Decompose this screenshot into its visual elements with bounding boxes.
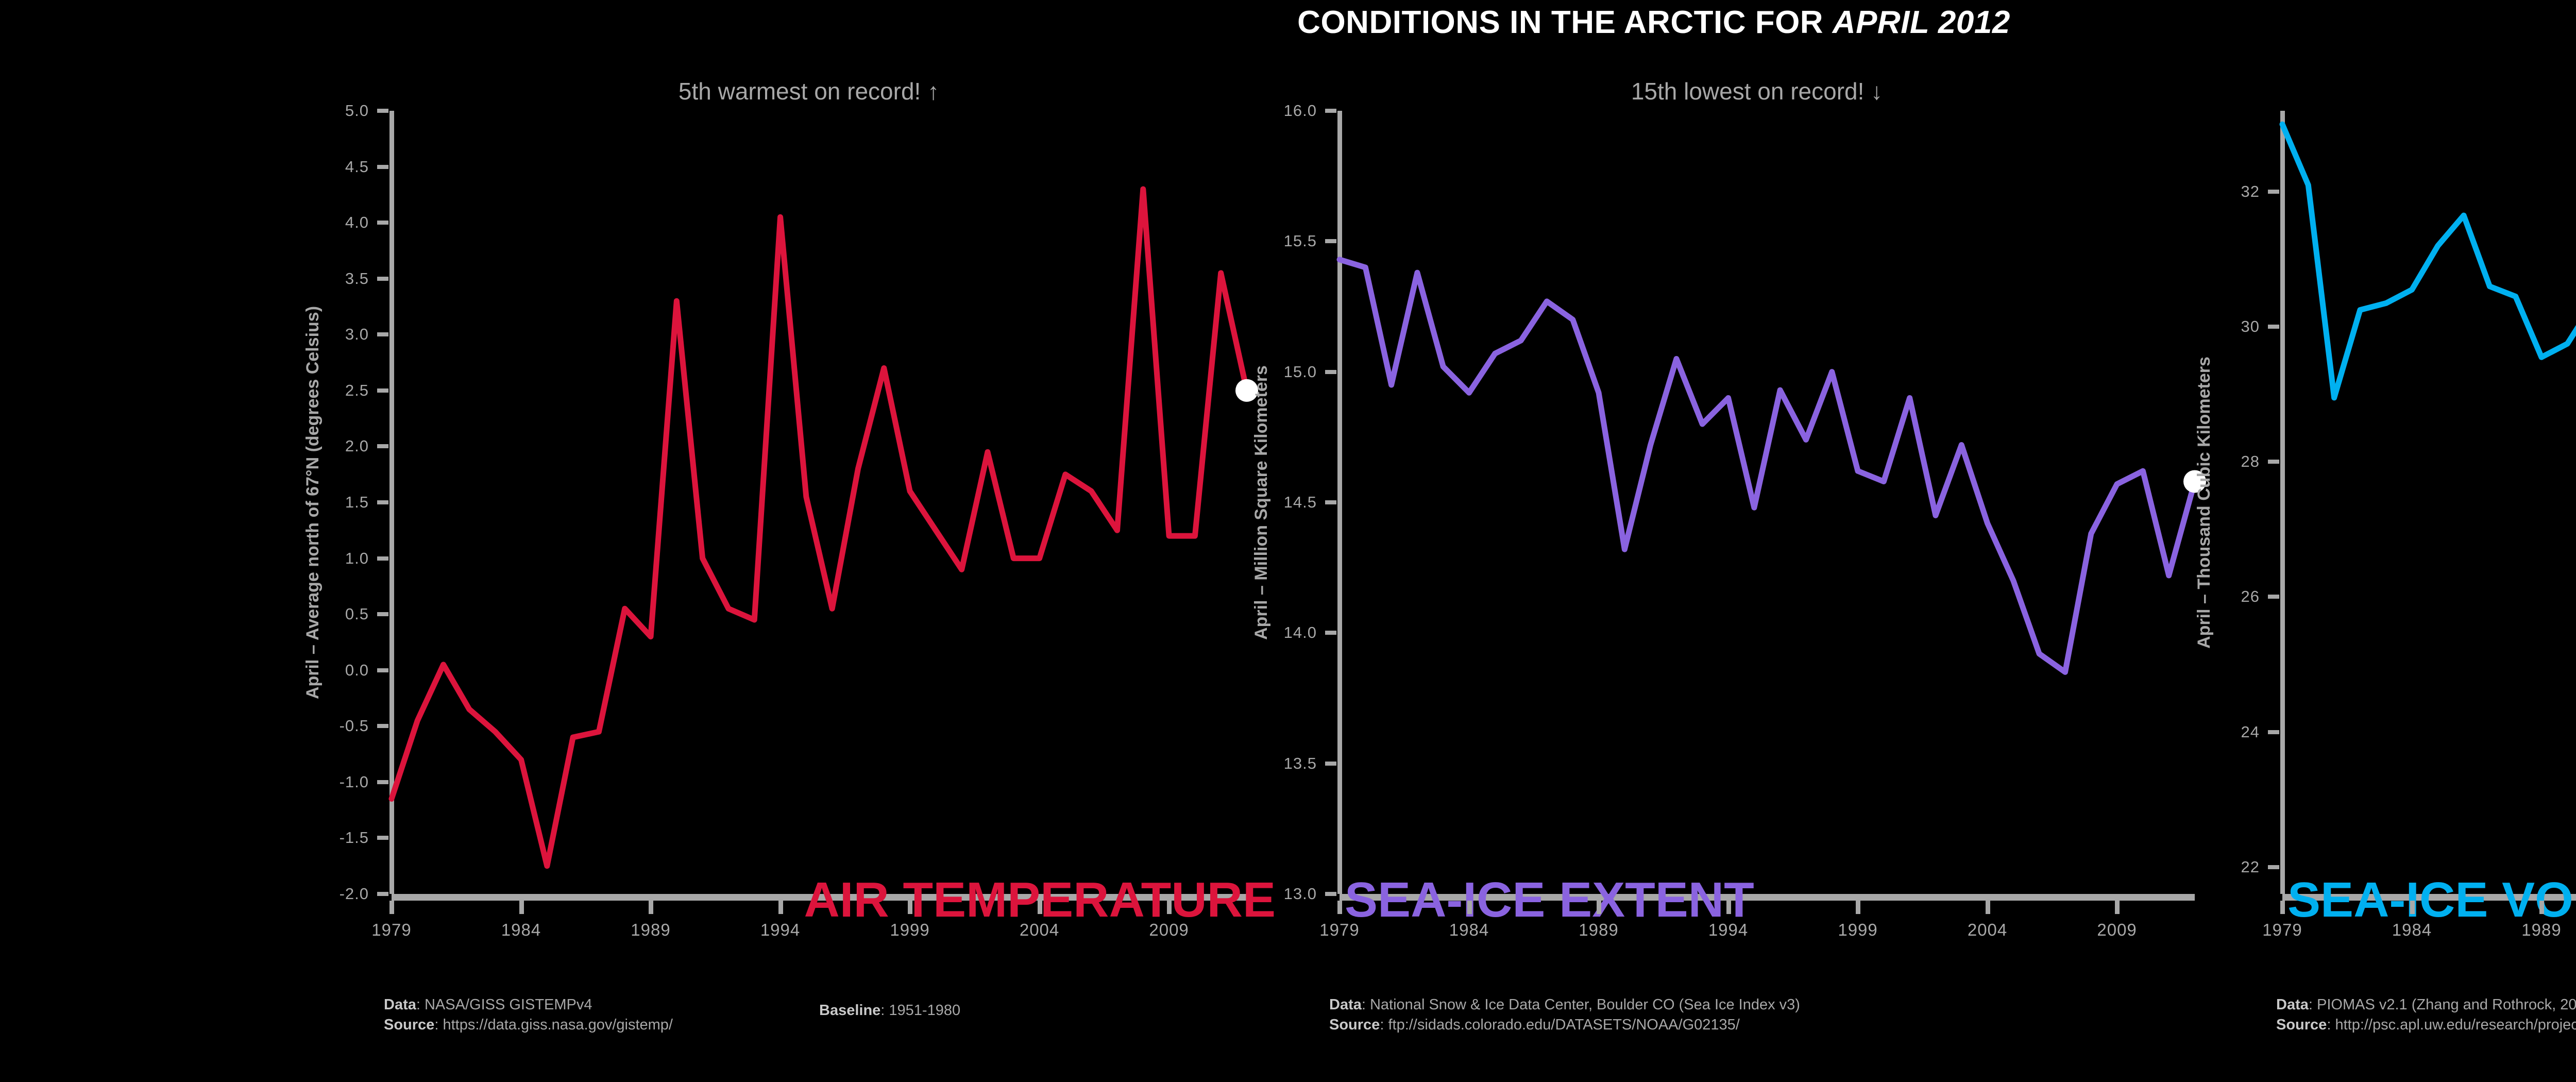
- y-tick-mark: [2268, 865, 2279, 869]
- page-title-emphasis: APRIL 2012: [1833, 5, 2010, 40]
- footer-source-label: Source: [1329, 1017, 1380, 1033]
- y-tick-mark: [377, 612, 388, 616]
- x-tick-label: 1999: [890, 920, 929, 940]
- x-tick-label: 1999: [1838, 920, 1877, 940]
- y-tick-label: 4.5: [276, 158, 369, 176]
- y-tick-mark: [377, 500, 388, 504]
- y-tick-mark: [377, 892, 388, 896]
- y-tick-label: 0.0: [276, 661, 369, 680]
- footer-source-label: Source: [384, 1017, 434, 1033]
- x-tick-mark: [2410, 901, 2415, 914]
- x-tick-mark: [778, 901, 783, 914]
- y-tick-label: 15.5: [1224, 232, 1317, 250]
- footer-sea-ice-volume: Data: PIOMAS v2.1 (Zhang and Rothrock, 2…: [2276, 995, 2576, 1035]
- x-tick-mark: [1467, 901, 1472, 914]
- x-tick-mark: [1726, 901, 1731, 914]
- y-tick-mark: [1325, 500, 1336, 504]
- footer-source-line: Source: https://data.giss.nasa.gov/giste…: [384, 1015, 673, 1035]
- footer-data-value: NASA/GISS GISTEMPv4: [425, 996, 592, 1013]
- y-tick-label: -0.5: [276, 717, 369, 735]
- panel-subtitle-air-temperature: 5th warmest on record! ↑: [335, 77, 1283, 105]
- footer-source-label: Source: [2276, 1017, 2327, 1033]
- y-tick-mark: [377, 556, 388, 561]
- y-tick-label: 1.5: [276, 493, 369, 512]
- y-tick-label: 26: [2167, 587, 2260, 606]
- x-tick-label: 1989: [631, 920, 670, 940]
- footer-source-value: http://psc.apl.uw.edu/research/projects/…: [2335, 1017, 2576, 1033]
- x-tick-label: 1984: [1449, 920, 1489, 940]
- y-tick-mark: [377, 109, 388, 113]
- y-tick-label: -1.0: [276, 773, 369, 791]
- y-tick-mark: [377, 277, 388, 281]
- y-tick-label: 32: [2167, 182, 2260, 201]
- panel-air-temperature: 5th warmest on record! ↑ April – Average…: [289, 72, 1283, 1067]
- x-tick-mark: [2115, 901, 2120, 914]
- data-line-air-temperature: [392, 189, 1247, 866]
- x-tick-mark: [1856, 901, 1860, 914]
- y-tick-mark: [377, 165, 388, 169]
- x-tick-label: 2004: [1968, 920, 2007, 940]
- x-tick-label: 1989: [1579, 920, 1618, 940]
- y-tick-label: 24: [2167, 723, 2260, 741]
- y-tick-mark: [1325, 892, 1336, 896]
- x-tick-mark: [1167, 901, 1172, 914]
- y-tick-label: 5.0: [276, 102, 369, 120]
- y-tick-mark: [1325, 762, 1336, 766]
- y-tick-mark: [377, 836, 388, 840]
- y-tick-label: 3.5: [276, 269, 369, 288]
- x-tick-label: 1994: [760, 920, 800, 940]
- x-tick-label: 2009: [1149, 920, 1189, 940]
- footer-sea-ice-extent: Data: National Snow & Ice Data Center, B…: [1329, 995, 1800, 1035]
- y-tick-mark: [377, 221, 388, 225]
- panel-sea-ice-volume: 2th lowest on record! ↓ April – Thousand…: [2179, 72, 2576, 1067]
- x-tick-label: 1994: [1708, 920, 1748, 940]
- y-tick-mark: [2268, 595, 2279, 599]
- y-tick-label: 13.5: [1224, 754, 1317, 773]
- y-tick-label: 13.0: [1224, 885, 1317, 903]
- x-tick-mark: [1597, 901, 1601, 914]
- x-tick-mark: [519, 901, 524, 914]
- x-tick-mark: [908, 901, 912, 914]
- y-tick-mark: [377, 724, 388, 728]
- x-tick-label: 2009: [2097, 920, 2137, 940]
- y-tick-label: 14.0: [1224, 623, 1317, 642]
- x-tick-mark: [1337, 901, 1342, 914]
- x-tick-label: 1979: [2262, 920, 2302, 940]
- footer-data-line: Data: NASA/GISS GISTEMPv4: [384, 995, 673, 1015]
- y-tick-mark: [1325, 631, 1336, 635]
- y-tick-mark: [2268, 325, 2279, 329]
- baseline-note: Baseline: 1951-1980: [819, 1002, 960, 1019]
- footer-source-line: Source: ftp://sidads.colorado.edu/DATASE…: [1329, 1015, 1800, 1035]
- y-tick-label: 30: [2167, 317, 2260, 336]
- y-tick-label: 2.5: [276, 381, 369, 400]
- y-tick-mark: [2268, 190, 2279, 194]
- footer-data-line: Data: PIOMAS v2.1 (Zhang and Rothrock, 2…: [2276, 995, 2576, 1015]
- footer-air-temperature: Data: NASA/GISS GISTEMPv4 Source: https:…: [384, 995, 673, 1035]
- y-tick-mark: [377, 668, 388, 672]
- y-axis-label-sea-ice-volume: April – Thousand Cubic Kilometers: [2190, 111, 2218, 894]
- data-line-sea-ice-volume: [2282, 124, 2576, 847]
- y-tick-mark: [1325, 239, 1336, 243]
- y-tick-label: 15.0: [1224, 363, 1317, 381]
- x-tick-label: 1979: [371, 920, 411, 940]
- panel-subtitle-sea-ice-extent: 15th lowest on record! ↓: [1283, 77, 2231, 105]
- x-tick-mark: [1986, 901, 1990, 914]
- x-tick-mark: [2280, 901, 2285, 914]
- x-tick-mark: [1038, 901, 1042, 914]
- x-tick-mark: [649, 901, 653, 914]
- y-tick-label: 22: [2167, 858, 2260, 876]
- y-tick-mark: [2268, 730, 2279, 734]
- y-tick-mark: [377, 388, 388, 393]
- y-tick-label: 28: [2167, 452, 2260, 471]
- plot-area-sea-ice-extent: [1340, 111, 2195, 894]
- y-tick-label: 16.0: [1224, 102, 1317, 120]
- footer-source-value: ftp://sidads.colorado.edu/DATASETS/NOAA/…: [1388, 1017, 1739, 1033]
- panel-sea-ice-extent: 15th lowest on record! ↓ April – Million…: [1236, 72, 2231, 1067]
- y-tick-label: -1.5: [276, 829, 369, 847]
- line-chart-sea-ice-extent: [1340, 111, 2195, 894]
- x-tick-label: 1984: [2392, 920, 2432, 940]
- footer-data-value: PIOMAS v2.1 (Zhang and Rothrock, 2003; S…: [2317, 996, 2576, 1013]
- baseline-value: 1951-1980: [889, 1002, 960, 1019]
- x-tick-mark: [389, 901, 394, 914]
- panel-subtitle-sea-ice-volume: 2th lowest on record! ↓: [2226, 77, 2576, 105]
- footer-data-value: National Snow & Ice Data Center, Boulder…: [1370, 996, 1800, 1013]
- x-tick-label: 1979: [1319, 920, 1359, 940]
- y-tick-mark: [377, 332, 388, 336]
- x-tick-mark: [2539, 901, 2544, 914]
- page-title-prefix: CONDITIONS IN THE ARCTIC FOR: [1297, 5, 1833, 40]
- y-tick-mark: [1325, 109, 1336, 113]
- footer-source-line: Source: http://psc.apl.uw.edu/research/p…: [2276, 1015, 2576, 1035]
- x-tick-label: 1984: [501, 920, 541, 940]
- footer-data-line: Data: National Snow & Ice Data Center, B…: [1329, 995, 1800, 1015]
- footer-source-value: https://data.giss.nasa.gov/gistemp/: [443, 1017, 673, 1033]
- x-tick-label: 2004: [1020, 920, 1059, 940]
- y-tick-mark: [377, 444, 388, 448]
- y-tick-mark: [377, 780, 388, 784]
- panel-name-sea-ice-extent: SEA-ICE EXTENT: [1345, 872, 1754, 928]
- footer-data-label: Data: [1329, 996, 1362, 1013]
- y-tick-label: 1.0: [276, 549, 369, 568]
- footer-data-label: Data: [2276, 996, 2309, 1013]
- page-title: CONDITIONS IN THE ARCTIC FOR APRIL 2012: [0, 4, 2576, 41]
- data-line-sea-ice-extent: [1340, 260, 2195, 672]
- plot-area-air-temperature: [392, 111, 1247, 894]
- y-tick-label: 14.5: [1224, 493, 1317, 512]
- y-tick-label: 2.0: [276, 437, 369, 455]
- footer-data-label: Data: [384, 996, 416, 1013]
- baseline-label: Baseline: [819, 1002, 880, 1019]
- plot-area-sea-ice-volume: [2282, 111, 2576, 894]
- y-tick-label: 0.5: [276, 605, 369, 623]
- line-chart-sea-ice-volume: [2282, 111, 2576, 894]
- y-tick-label: 3.0: [276, 325, 369, 344]
- y-tick-label: -2.0: [276, 885, 369, 903]
- y-tick-label: 4.0: [276, 213, 369, 232]
- x-tick-label: 1989: [2521, 920, 2561, 940]
- line-chart-air-temperature: [392, 111, 1247, 894]
- y-tick-mark: [2268, 460, 2279, 464]
- y-tick-mark: [1325, 370, 1336, 374]
